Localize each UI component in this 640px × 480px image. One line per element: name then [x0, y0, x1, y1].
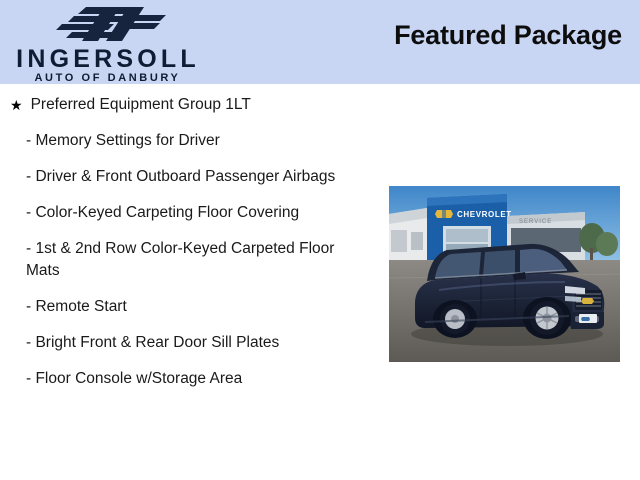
- feature-item: - Memory Settings for Driver: [0, 116, 372, 152]
- feature-heading-row: ★ Preferred Equipment Group 1LT: [0, 86, 372, 116]
- star-bullet-icon: ★: [10, 94, 23, 116]
- feature-item: - Bright Front & Rear Door Sill Plates: [0, 318, 372, 354]
- feature-item-label: - Driver & Front Outboard Passenger Airb…: [26, 166, 372, 188]
- feature-item-label: - Bright Front & Rear Door Sill Plates: [26, 332, 372, 354]
- dealer-name: INGERSOLL: [8, 46, 204, 72]
- feature-item: - Driver & Front Outboard Passenger Airb…: [0, 152, 372, 188]
- header-band: INGERSOLL AUTO OF DANBURY Featured Packa…: [0, 0, 640, 84]
- feature-item-label: - Memory Settings for Driver: [26, 130, 372, 152]
- svg-text:CHEVROLET: CHEVROLET: [457, 210, 512, 219]
- feature-item: - Floor Console w/Storage Area: [0, 354, 372, 390]
- feature-heading-label: Preferred Equipment Group 1LT: [31, 94, 372, 116]
- feature-item: - Color-Keyed Carpeting Floor Covering: [0, 188, 372, 224]
- feature-item-label: - 1st & 2nd Row Color-Keyed Carpeted Flo…: [26, 238, 372, 282]
- feature-list: ★ Preferred Equipment Group 1LT - Memory…: [0, 86, 372, 390]
- feature-item: - Remote Start: [0, 282, 372, 318]
- feature-item: - 1st & 2nd Row Color-Keyed Carpeted Flo…: [0, 224, 372, 282]
- svg-text:SERVICE: SERVICE: [519, 219, 552, 225]
- ingersoll-wing-emblem-icon: [42, 3, 170, 45]
- page-title: Featured Package: [394, 20, 622, 51]
- dealer-tagline: AUTO OF DANBURY: [8, 72, 204, 85]
- dealer-brand-block: INGERSOLL AUTO OF DANBURY: [8, 3, 204, 85]
- vehicle-photo: CHEVROLET SERVICE: [389, 186, 620, 362]
- feature-item-label: - Remote Start: [26, 296, 372, 318]
- feature-item-label: - Color-Keyed Carpeting Floor Covering: [26, 202, 372, 224]
- feature-item-label: - Floor Console w/Storage Area: [26, 368, 372, 390]
